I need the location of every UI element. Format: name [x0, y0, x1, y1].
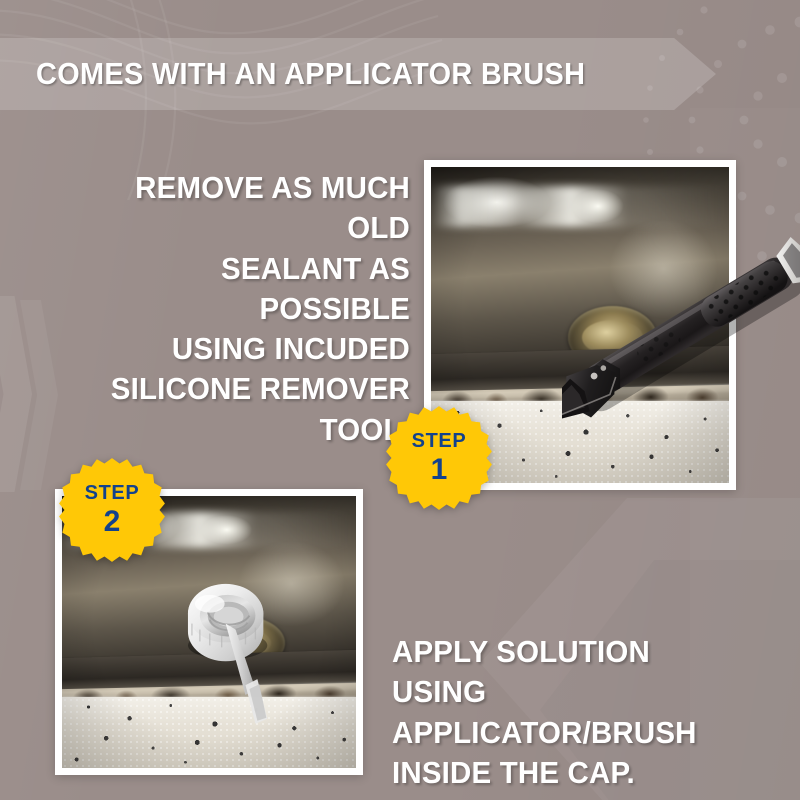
step-1-instruction-text: REMOVE AS MUCH OLD SEALANT AS POSSIBLE U… [79, 168, 410, 450]
sink-highlight [431, 186, 729, 227]
step-1-line-3: USING INCUDED [79, 329, 410, 369]
step-1-line-5: TOOL. [79, 410, 410, 450]
step-1-badge: STEP 1 [385, 404, 493, 512]
step-2-line-3: INSIDE THE CAP. [392, 753, 734, 793]
step-2-line-1: APPLY SOLUTION USING [392, 632, 734, 713]
speckled-countertop-2 [62, 697, 356, 768]
step-2-line-2: APPLICATOR/BRUSH [392, 713, 734, 753]
page-title: COMES WITH AN APPLICATOR BRUSH [36, 38, 631, 110]
product-infographic-poster: COMES WITH AN APPLICATOR BRUSH REMOVE AS… [0, 0, 800, 800]
step-1-line-4: SILICONE REMOVER [79, 369, 410, 409]
step-2-badge-number: 2 [104, 507, 121, 537]
step-2-instruction-text: APPLY SOLUTION USING APPLICATOR/BRUSH IN… [392, 632, 734, 793]
step-2-badge-label: STEP [85, 483, 140, 503]
step-1-badge-number: 1 [431, 455, 448, 485]
step-1-line-1: REMOVE AS MUCH OLD [79, 168, 410, 249]
step-1-line-2: SEALANT AS POSSIBLE [79, 249, 410, 330]
step-1-badge-label: STEP [412, 431, 467, 451]
step-2-badge: STEP 2 [58, 456, 166, 564]
